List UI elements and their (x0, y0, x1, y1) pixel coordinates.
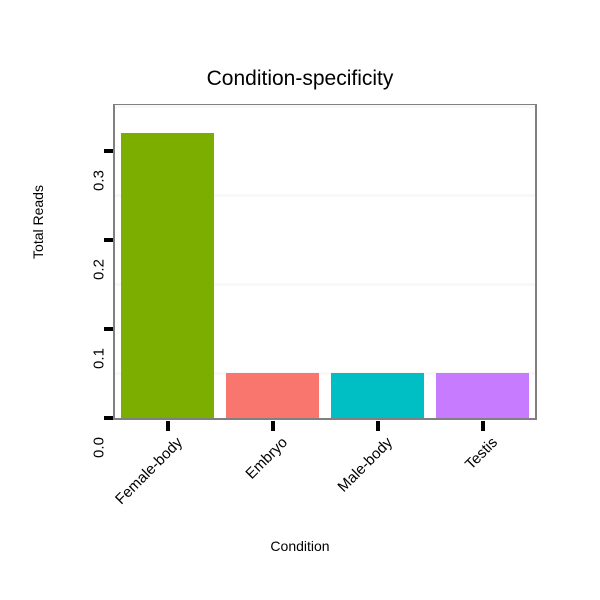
y-tick-label: 0.3 (92, 150, 107, 210)
y-tick-label: 0.0 (92, 418, 107, 478)
x-tick-mark (481, 421, 485, 431)
y-tick-label: 0.1 (92, 328, 107, 388)
bar-testis (436, 373, 529, 418)
bar-male-body (331, 373, 424, 418)
plot-panel (113, 104, 537, 420)
x-tick-mark (166, 421, 170, 431)
y-tick-label: 0.2 (92, 239, 107, 299)
x-tick-mark (271, 421, 275, 431)
x-axis-title: Condition (0, 538, 600, 555)
bar-chart: Condition-specificity 0.00.10.20.3 Total… (0, 0, 600, 600)
gridline-minor (115, 105, 535, 108)
chart-title: Condition-specificity (0, 66, 600, 92)
plot-area (115, 106, 535, 418)
bar-female-body (121, 133, 214, 418)
x-tick-mark (376, 421, 380, 431)
y-axis-title: Total Reads (30, 162, 46, 282)
bar-embryo (226, 373, 319, 418)
